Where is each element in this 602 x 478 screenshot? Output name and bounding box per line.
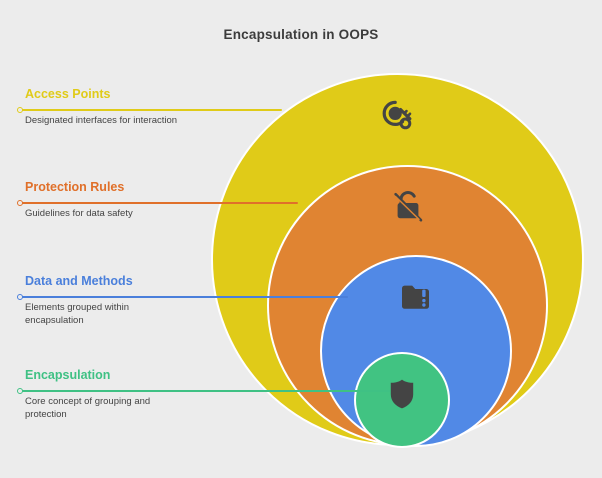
label-block-encapsulation[interactable]: Encapsulation Core concept of grouping a… xyxy=(25,367,225,421)
label-block-data-and-methods[interactable]: Data and Methods Elements grouped within… xyxy=(25,273,225,327)
label-description-data-and-methods: Elements grouped within encapsulation xyxy=(25,301,145,327)
folder-icon xyxy=(400,282,432,312)
connector-dot-encapsulation xyxy=(17,388,23,394)
lock-slash-icon xyxy=(392,189,424,223)
label-title-protection-rules: Protection Rules xyxy=(25,179,225,195)
label-description-encapsulation: Core concept of grouping and protection xyxy=(25,395,155,421)
connector-dot-data-and-methods xyxy=(17,294,23,300)
key-ring-icon xyxy=(381,99,415,133)
label-block-protection-rules[interactable]: Protection Rules Guidelines for data saf… xyxy=(25,179,225,220)
diagram-canvas: Encapsulation in OOPS xyxy=(0,0,602,478)
label-block-access-points[interactable]: Access Points Designated interfaces for … xyxy=(25,86,225,127)
connector-dot-protection-rules xyxy=(17,200,23,206)
ring-encapsulation[interactable] xyxy=(354,352,450,448)
label-description-protection-rules: Guidelines for data safety xyxy=(25,207,205,220)
shield-icon xyxy=(388,378,416,410)
label-description-access-points: Designated interfaces for interaction xyxy=(25,114,205,127)
label-title-encapsulation: Encapsulation xyxy=(25,367,225,383)
connector-dot-access-points xyxy=(17,107,23,113)
label-title-data-and-methods: Data and Methods xyxy=(25,273,225,289)
label-title-access-points: Access Points xyxy=(25,86,225,102)
